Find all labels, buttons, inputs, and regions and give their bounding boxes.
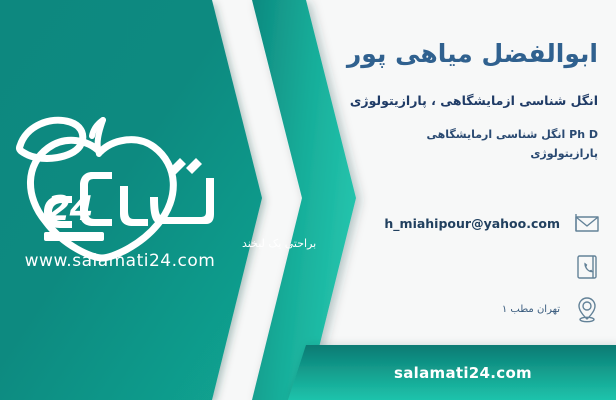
contact-row-phone[interactable] — [314, 250, 604, 284]
logo-badge-24: 24 — [47, 189, 92, 229]
phone-book-icon — [570, 250, 604, 284]
specialty-line: انگل شناسی ازمایشگاهی ، پارازیتولوژی — [322, 93, 598, 109]
info-column: ابوالفضل میاهی پور انگل شناسی ازمایشگاهی… — [310, 0, 616, 400]
address-value: تهران مطب ۱ — [314, 304, 560, 315]
envelope-icon — [570, 206, 604, 240]
degree-block: Ph D انگل شناسی ارمایشگاهی پارازیتولوژی — [322, 126, 598, 163]
logo-website: www.salamati24.com — [25, 251, 216, 271]
degree-line-1: Ph D انگل شناسی ارمایشگاهی — [322, 126, 598, 145]
location-pin-icon — [570, 292, 604, 326]
contact-row-email[interactable]: h_miahipour@yahoo.com — [314, 206, 604, 240]
page-title: ابوالفضل میاهی پور — [322, 38, 598, 69]
footer-bar-left — [0, 345, 212, 400]
svg-text:www.salamati24.com: www.salamati24.com — [25, 251, 216, 271]
phone-value[interactable] — [314, 260, 560, 274]
svg-text:براحتی یک لبخند: براحتی یک لبخند — [242, 237, 316, 250]
contact-row-address[interactable]: تهران مطب ۱ — [314, 292, 604, 326]
left-teal-panel — [0, 0, 262, 400]
degree-line-2: پارازیتولوژی — [322, 145, 598, 164]
svg-text:24: 24 — [47, 189, 92, 229]
logo-tagline: براحتی یک لبخند — [242, 237, 316, 250]
email-value[interactable]: h_miahipour@yahoo.com — [314, 216, 560, 231]
footer-website[interactable]: salamati24.com — [310, 345, 616, 400]
business-card: 24 براحتی یک لبخند www.salamati24.com اب… — [0, 0, 616, 400]
